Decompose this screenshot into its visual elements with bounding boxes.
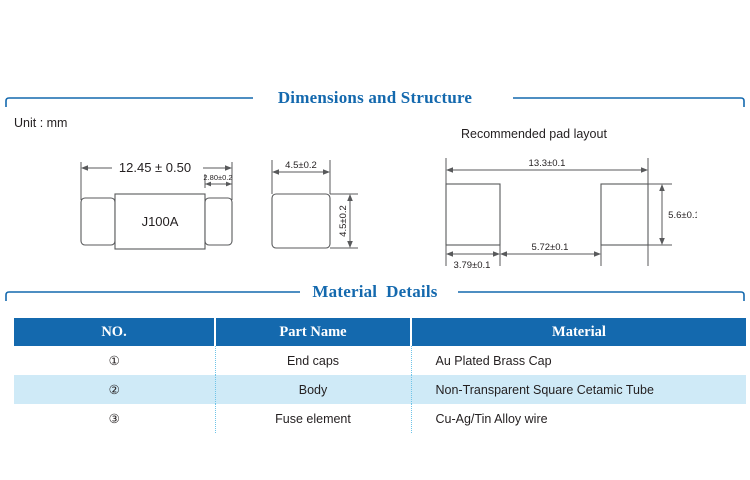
cross-section-width-dimension-text: 4.5±0.2 [285,160,317,171]
unit-label: Unit : mm [14,116,67,130]
material-details-table: NO. Part Name Material ① End caps Au Pla… [14,318,746,433]
table-row: ① End caps Au Plated Brass Cap [14,346,746,375]
fuse-cross-section-drawing: 4.5±0.2 4.5±0.2 [262,150,382,260]
dimensions-section-header: Dimensions and Structure [0,88,750,118]
fuse-left-end-cap [81,198,115,245]
material-section-header: Material Details [0,282,750,312]
fuse-right-end-cap [205,198,232,245]
pad-layout-caption: Recommended pad layout [461,127,607,141]
pad-height-dimension-text: 5.6±0.1 [668,210,697,221]
row-material: Cu-Ag/Tin Alloy wire [411,404,746,433]
material-section-title: Material Details [0,282,750,302]
dimensions-section-title: Dimensions and Structure [0,88,750,108]
cross-section-height-dimension-text: 4.5±0.2 [338,205,349,237]
cap-width-dimension-text: 2.80±0.2 [203,173,232,182]
pad-overall-length-dimension-text: 13.3±0.1 [529,158,566,169]
row-number: ① [14,346,215,375]
table-row: ③ Fuse element Cu-Ag/Tin Alloy wire [14,404,746,433]
fuse-cross-section-square [272,194,330,248]
row-part-name: Fuse element [215,404,411,433]
row-material: Non-Transparent Square Cetamic Tube [411,375,746,404]
fuse-part-marking-text: J100A [142,214,179,229]
fuse-length-dimension-text: 12.45 ± 0.50 [119,160,191,175]
pad-left-rectangle [446,184,500,245]
row-material: Au Plated Brass Cap [411,346,746,375]
row-part-name: End caps [215,346,411,375]
table-header-row: NO. Part Name Material [14,318,746,346]
column-header-part-name: Part Name [215,318,411,346]
pad-gap-dimension-text: 5.72±0.1 [532,242,569,253]
row-part-name: Body [215,375,411,404]
fuse-side-view-drawing: 12.45 ± 0.50 2.80±0.2 J100A [60,150,250,260]
pad-layout-drawing: 13.3±0.1 5.6±0.1 5.72±0.1 3.79±0.1 [432,148,697,273]
pad-right-rectangle [601,184,648,245]
pad-width-dimension-text: 3.79±0.1 [454,260,491,271]
column-header-no: NO. [14,318,215,346]
row-number: ③ [14,404,215,433]
row-number: ② [14,375,215,404]
table-row: ② Body Non-Transparent Square Cetamic Tu… [14,375,746,404]
column-header-material: Material [411,318,746,346]
